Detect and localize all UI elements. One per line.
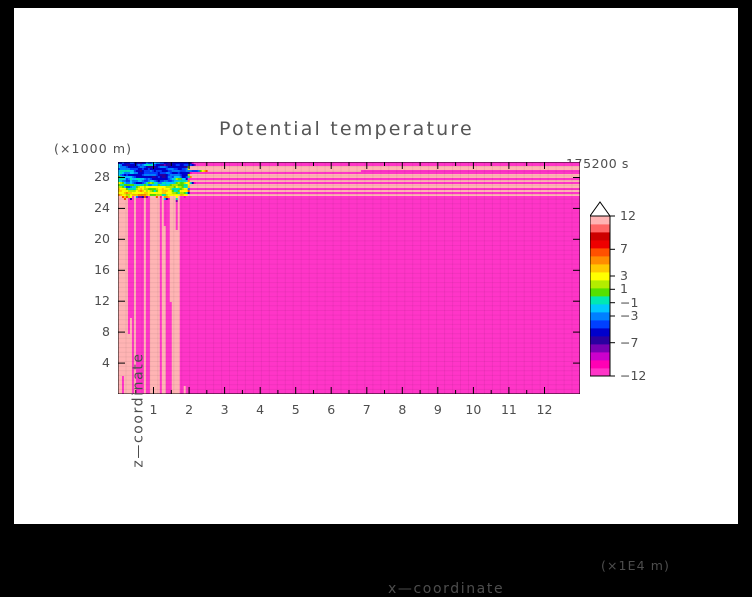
- figure-canvas: Potential temperature (×1000 m) 175200 s…: [14, 8, 738, 524]
- x-axis-title: x—coordinate: [388, 581, 504, 597]
- y-tick-24: 24: [84, 200, 110, 215]
- colorbar-label-0: 12: [620, 208, 636, 223]
- y-tick-16: 16: [84, 262, 110, 277]
- y-axis-unit: (×1000 m): [54, 141, 132, 156]
- x-tick-3: 3: [213, 402, 237, 417]
- colorbar-label-7: −12: [620, 368, 646, 383]
- x-tick-9: 9: [426, 402, 450, 417]
- y-axis-title: z—coordinate: [131, 352, 147, 467]
- contour-plot: [118, 162, 580, 394]
- x-tick-11: 11: [497, 402, 521, 417]
- colorbar-label-5: −3: [620, 308, 638, 323]
- x-tick-7: 7: [355, 402, 379, 417]
- x-tick-2: 2: [177, 402, 201, 417]
- y-tick-8: 8: [84, 324, 110, 339]
- x-tick-5: 5: [284, 402, 308, 417]
- x-tick-8: 8: [390, 402, 414, 417]
- y-tick-28: 28: [84, 169, 110, 184]
- colorbar: [590, 200, 616, 380]
- x-axis-unit: (×1E4 m): [601, 558, 670, 573]
- y-tick-12: 12: [84, 293, 110, 308]
- x-tick-10: 10: [461, 402, 485, 417]
- chart-title: Potential temperature: [219, 118, 474, 140]
- colorbar-label-6: −7: [620, 335, 638, 350]
- colorbar-label-1: 7: [620, 241, 628, 256]
- x-tick-12: 12: [532, 402, 556, 417]
- y-tick-20: 20: [84, 231, 110, 246]
- x-tick-6: 6: [319, 402, 343, 417]
- y-tick-4: 4: [84, 355, 110, 370]
- plot-area-wrapper: 481216202428 123456789101112 z—coordinat…: [118, 162, 580, 398]
- x-tick-4: 4: [248, 402, 272, 417]
